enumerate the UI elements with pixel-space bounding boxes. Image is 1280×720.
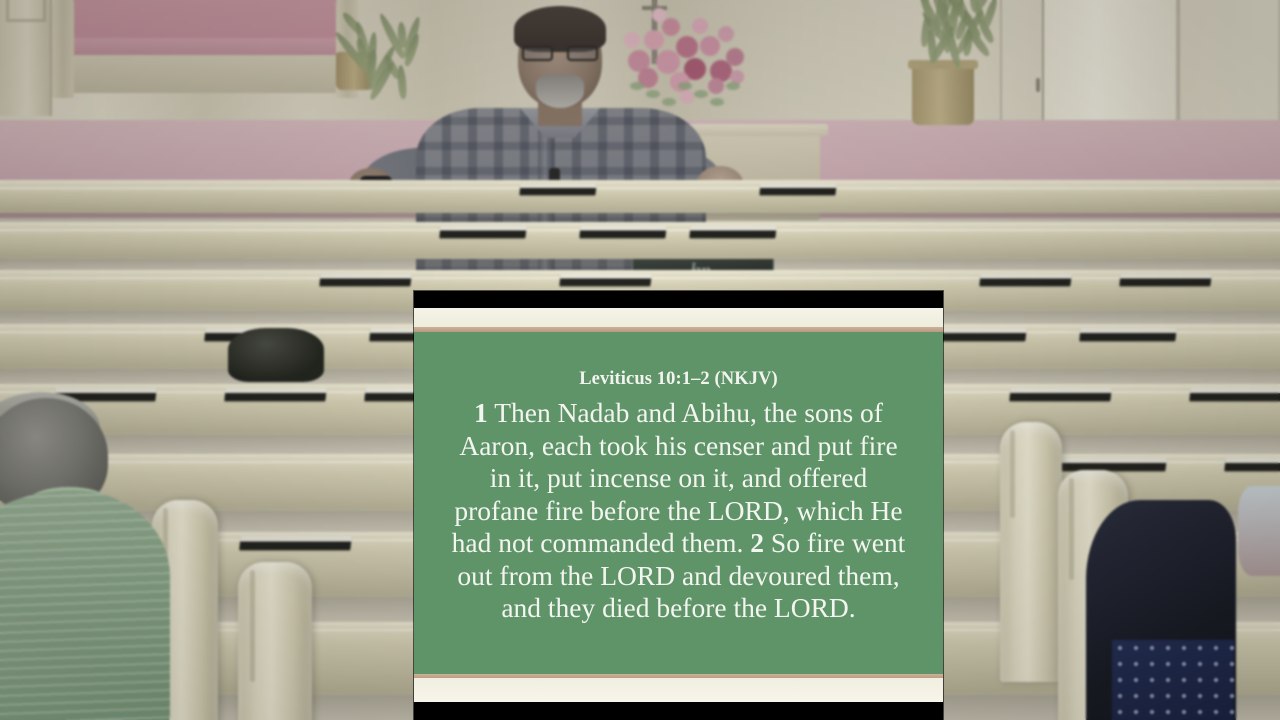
hymnal-book (239, 536, 351, 550)
scripture-line: in it, put incense on it, and offered (424, 462, 933, 495)
flower-blossom (718, 26, 734, 42)
scripture-line: 1 Then Nadab and Abihu, the sons of (424, 397, 933, 430)
hymnal-book (319, 274, 411, 286)
hymnal-book (224, 388, 326, 401)
eyeglasses-icon (522, 46, 598, 61)
slide-bottom-cream-band (414, 678, 943, 702)
scripture-slide-overlay: Leviticus 10:1–2 (NKJV) 1 Then Nadab and… (414, 291, 943, 720)
choir-bench-seat (55, 38, 355, 56)
flower-greenery (710, 98, 724, 106)
attendee-right-arm (1238, 486, 1280, 576)
hymnal-book (979, 274, 1071, 286)
verse-number: 1 (474, 397, 488, 428)
hymnal-book (1079, 328, 1176, 341)
hymnal-book (1189, 388, 1280, 401)
scripture-text: 1 Then Nadab and Abihu, the sons of Aaro… (422, 397, 935, 625)
hymnal-book (689, 226, 776, 238)
flower-blossom (708, 78, 724, 94)
scripture-reference: Leviticus 10:1–2 (NKJV) (422, 369, 935, 390)
planter-pot-right (912, 63, 974, 125)
flower-greenery (726, 82, 740, 90)
preacher-goatee (536, 74, 584, 108)
sanctuary-door (1042, 0, 1178, 138)
attendee-left-striped-shirt (0, 490, 170, 720)
flower-blossom (726, 48, 744, 66)
pew-end-cap (238, 562, 312, 720)
slide-content: Leviticus 10:1–2 (NKJV) 1 Then Nadab and… (414, 332, 943, 674)
wall-trim-left (0, 0, 52, 116)
hymnal-book (519, 184, 596, 195)
pew-row (0, 187, 1280, 213)
scripture-line-text: Then Nadab and Abihu, the sons of (494, 397, 883, 428)
slide-green-panel: Leviticus 10:1–2 (NKJV) 1 Then Nadab and… (414, 332, 943, 674)
screenshot-stage: hp Leviticus 10:1–2 (NKJV) 1 Then Nadab … (0, 0, 1280, 720)
pew-end-cap (1000, 422, 1062, 682)
scripture-line: had not commanded them. 2 So fire went (424, 527, 933, 560)
scripture-line-text: had not commanded them. (452, 527, 744, 558)
potted-plant-right (900, 0, 1000, 70)
hymnal-book (759, 184, 836, 195)
attendee-right-patterned-fabric (1112, 640, 1234, 720)
choir-bench-skirt (62, 55, 352, 93)
black-bag (228, 328, 324, 382)
slide-top-cream-band (414, 308, 943, 327)
arch-molding (6, 0, 46, 22)
scripture-line: out from the LORD and devoured them, (424, 560, 933, 593)
hymnal-book (1009, 388, 1111, 401)
scripture-line: and they died before the LORD. (424, 592, 933, 625)
hymnal-book (439, 226, 526, 238)
door-knob (1036, 78, 1040, 92)
bench-arm-left (52, 0, 74, 98)
hymnal-book (1224, 458, 1280, 471)
eyeglass-lens-right (567, 46, 598, 61)
hymnal-book (929, 328, 1026, 341)
hymnal-book (1119, 274, 1211, 286)
eyeglass-lens-left (522, 46, 553, 61)
flower-blossom (700, 36, 720, 56)
scripture-line: profane fire before the LORD, which He (424, 495, 933, 528)
scripture-line: Aaron, each took his censer and put fire (424, 430, 933, 463)
hymnal-book (579, 226, 666, 238)
hymnal-book (559, 274, 651, 286)
verse-number: 2 (750, 527, 764, 558)
hymnal-book (1059, 458, 1166, 471)
scripture-line-text: So fire went (771, 527, 905, 558)
